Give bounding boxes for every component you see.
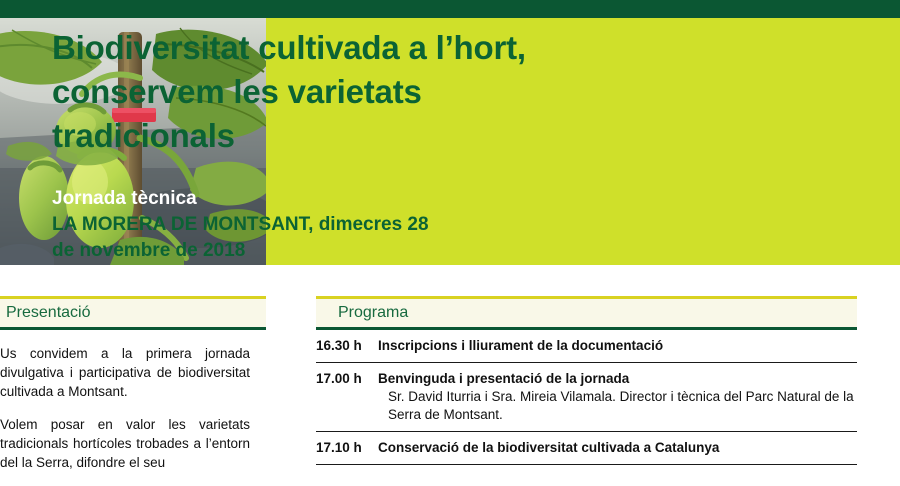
program-entry-title: Inscripcions i lliurament de la document… — [378, 337, 857, 355]
event-kicker: Jornada tècnica — [52, 186, 622, 212]
program-entry: Inscripcions i lliurament de la document… — [378, 337, 857, 355]
program-entry-title: Benvinguda i presentació de la jornada — [378, 370, 857, 388]
hero-banner: Biodiversitat cultivada a l’hort, conser… — [0, 18, 900, 265]
presentation-body: Us convidem a la primera jornada divulga… — [0, 330, 266, 472]
program-entry: Conservació de la biodiversitat cultivad… — [378, 439, 857, 457]
program-column: Programa 16.30 h Inscripcions i lliurame… — [316, 296, 857, 465]
page-title: Biodiversitat cultivada a l’hort, conser… — [52, 26, 612, 158]
top-green-bar — [0, 0, 900, 18]
event-place-line-2: de novembre de 2018 — [52, 238, 622, 264]
presentation-section-header: Presentació — [0, 296, 266, 330]
program-entry-title: Conservació de la biodiversitat cultivad… — [378, 439, 857, 457]
presentation-paragraph: Us convidem a la primera jornada divulga… — [0, 344, 250, 401]
program-heading: Programa — [338, 304, 408, 322]
program-entry-speaker: Sr. David Iturria i Sra. Mireia Vilamala… — [378, 388, 857, 424]
presentation-heading: Presentació — [6, 304, 91, 322]
presentation-column: Presentació Us convidem a la primera jor… — [0, 296, 266, 486]
program-row: 17.10 h Conservació de la biodiversitat … — [316, 432, 857, 465]
program-row: 16.30 h Inscripcions i lliurament de la … — [316, 330, 857, 363]
presentation-paragraph: Volem posar en valor les varietats tradi… — [0, 415, 250, 472]
program-time: 17.00 h — [316, 370, 378, 388]
program-row: 17.00 h Benvinguda i presentació de la j… — [316, 363, 857, 432]
event-place-line-1: LA MORERA DE MONTSANT, dimecres 28 — [52, 212, 622, 238]
program-list: 16.30 h Inscripcions i lliurament de la … — [316, 330, 857, 465]
program-time: 16.30 h — [316, 337, 378, 355]
program-section-header: Programa — [316, 296, 857, 330]
program-entry: Benvinguda i presentació de la jornada S… — [378, 370, 857, 424]
hero-subtitle-block: Jornada tècnica LA MORERA DE MONTSANT, d… — [52, 186, 622, 264]
program-time: 17.10 h — [316, 439, 378, 457]
